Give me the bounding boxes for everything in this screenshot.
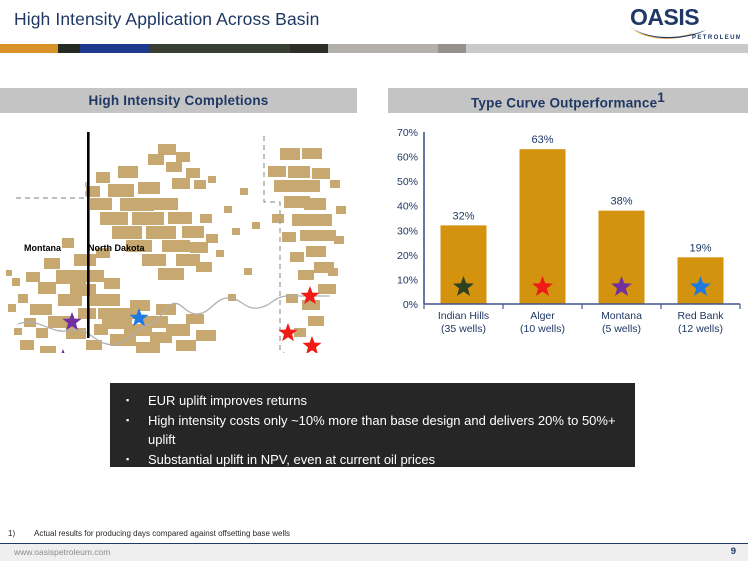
map-label-montana: Montana [24, 243, 61, 253]
panel-title-footnote-marker: 1 [657, 90, 665, 105]
y-tick-label-20: 20% [397, 250, 418, 262]
chart-bars [441, 149, 724, 304]
accent-seg-6 [438, 44, 466, 53]
bar-indian-hills[interactable] [441, 225, 487, 304]
type-curve-chart: 0%10%20%30%40%50%60%70% 32%63%38%19% Ind… [380, 118, 748, 353]
map-star-purple-2 [53, 349, 72, 353]
chart-x-axis-labels: Indian Hills(35 wells)Alger(10 wells)Mon… [438, 310, 724, 335]
accent-strip [0, 44, 748, 53]
x-label-2: Montana [601, 310, 642, 322]
bullet-item-2: ▪ Substantial uplift in NPV, even at cur… [126, 450, 625, 469]
page-title: High Intensity Application Across Basin [14, 9, 319, 30]
bar-value-label-2: 38% [610, 196, 632, 208]
bullet-marker-2: ▪ [126, 450, 148, 469]
accent-seg-4 [290, 44, 328, 53]
panel-title-completions: High Intensity Completions [89, 93, 269, 108]
bar-value-label-1: 63% [531, 134, 553, 146]
chart-svg: 0%10%20%30%40%50%60%70% 32%63%38%19% Ind… [380, 118, 748, 353]
accent-seg-0 [0, 44, 58, 53]
x-label-0: Indian Hills [438, 310, 489, 322]
y-tick-label-50: 50% [397, 176, 418, 188]
x-sublabel-0: (35 wells) [441, 323, 486, 335]
bullet-marker-1: ▪ [126, 411, 148, 430]
map-star-red-3 [302, 336, 321, 353]
accent-seg-5 [328, 44, 438, 53]
bullet-item-0: ▪ EUR uplift improves returns [126, 391, 625, 410]
footnote: 1) Actual results for producing days com… [8, 529, 290, 538]
oasis-petroleum-logo: OASIS PETROLEUM [628, 3, 740, 45]
y-tick-label-10: 10% [397, 274, 418, 286]
chart-bar-stars [453, 276, 711, 296]
panel-title-typecurve: Type Curve Outperformance1 [471, 90, 665, 111]
chart-y-axis-ticks: 0%10%20%30%40%50%60%70% [397, 127, 418, 311]
y-tick-label-0: 0% [403, 299, 418, 311]
map-state-line-solid [87, 132, 90, 338]
y-tick-label-30: 30% [397, 225, 418, 237]
accent-seg-1 [58, 44, 80, 53]
footer-bar [0, 544, 748, 561]
bullet-marker-0: ▪ [126, 391, 148, 410]
x-sublabel-1: (10 wells) [520, 323, 565, 335]
map-label-north-dakota: North Dakota [88, 243, 145, 253]
panel-title-typecurve-text: Type Curve Outperformance [471, 96, 657, 111]
chart-value-labels: 32%63%38%19% [452, 134, 711, 254]
x-sublabel-3: (12 wells) [678, 323, 723, 335]
y-tick-label-70: 70% [397, 127, 418, 139]
accent-seg-2 [80, 44, 150, 53]
x-sublabel-2: (5 wells) [602, 323, 641, 335]
bullet-item-1: ▪ High intensity costs only ~10% more th… [126, 411, 625, 449]
panel-header-typecurve: Type Curve Outperformance1 [388, 88, 748, 113]
completions-map: Montana North Dakota [0, 118, 370, 353]
map-svg [0, 118, 370, 353]
bar-value-label-3: 19% [689, 242, 711, 254]
slide-root: High Intensity Application Across Basin … [0, 0, 748, 561]
footnote-text: Actual results for producing days compar… [34, 529, 290, 538]
panel-header-completions: High Intensity Completions [0, 88, 357, 113]
footer-url[interactable]: www.oasispetroleum.com [14, 547, 110, 557]
bullet-text-0: EUR uplift improves returns [148, 391, 307, 410]
bullet-text-1: High intensity costs only ~10% more than… [148, 411, 625, 449]
svg-text:PETROLEUM: PETROLEUM [692, 35, 740, 41]
bar-value-label-0: 32% [452, 210, 474, 222]
svg-text:OASIS: OASIS [630, 4, 699, 30]
y-tick-label-60: 60% [397, 152, 418, 164]
x-label-1: Alger [530, 310, 555, 322]
page-number: 9 [731, 546, 736, 557]
footnote-number: 1) [8, 529, 34, 538]
y-tick-label-40: 40% [397, 201, 418, 213]
key-points-box: ▪ EUR uplift improves returns ▪ High int… [110, 383, 635, 467]
x-label-3: Red Bank [677, 310, 724, 322]
accent-seg-7 [466, 44, 748, 53]
bullet-text-2: Substantial uplift in NPV, even at curre… [148, 450, 435, 469]
map-star-red-2 [278, 323, 297, 341]
accent-seg-3 [150, 44, 290, 53]
